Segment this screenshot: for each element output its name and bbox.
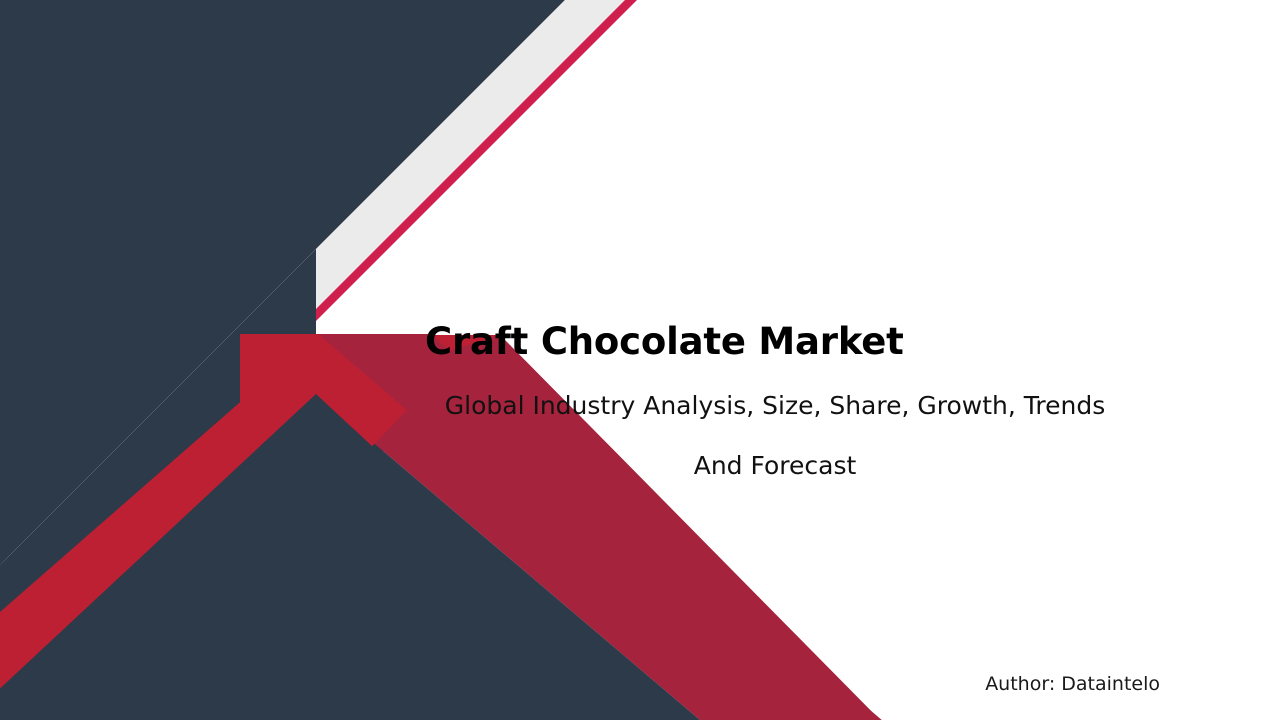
page-subtitle: Global Industry Analysis, Size, Share, G… — [425, 376, 1125, 496]
slide-text-layer: Craft Chocolate Market Global Industry A… — [0, 0, 1280, 720]
author-credit: Author: Dataintelo — [760, 671, 1160, 697]
slide-canvas: Craft Chocolate Market Global Industry A… — [0, 0, 1280, 720]
page-title: Craft Chocolate Market — [425, 319, 1185, 365]
